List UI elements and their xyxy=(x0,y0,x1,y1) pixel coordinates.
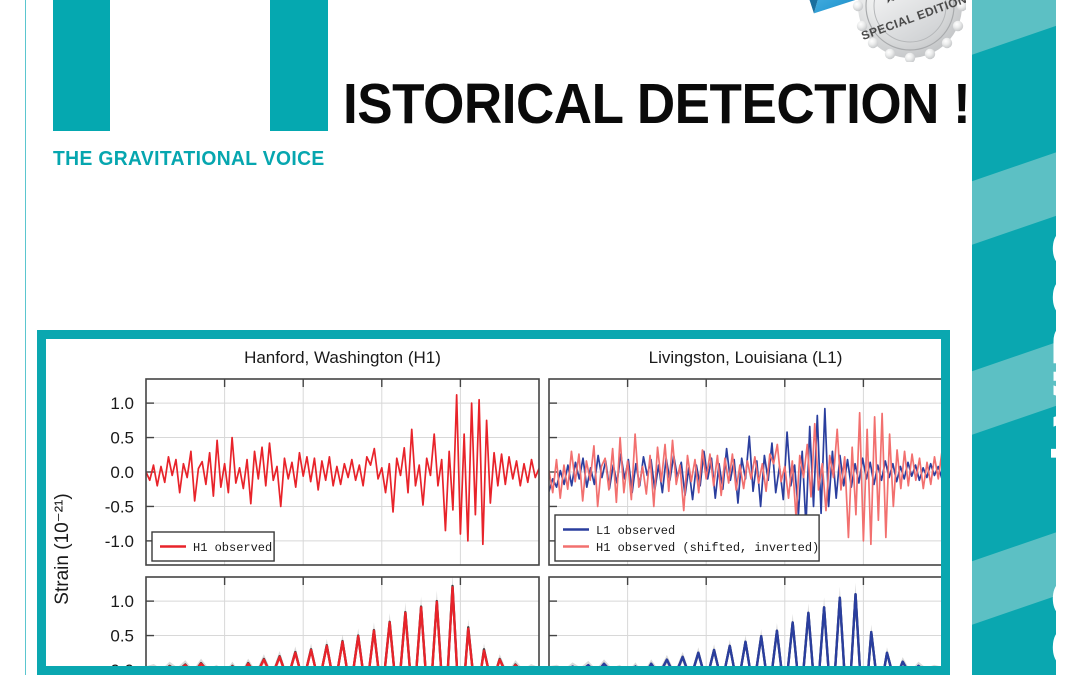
chart-panel-l1-reconstructed xyxy=(549,577,941,666)
y-tick-label: 1.0 xyxy=(110,394,134,413)
chart-panel-h1-observed: 1.00.50.0-0.5-1.0H1 observed xyxy=(105,379,539,565)
sidebar-brand-label: GO and VIRGO xyxy=(1040,224,1056,672)
left-margin-rule xyxy=(25,0,26,675)
y-tick-label: -0.5 xyxy=(105,497,134,516)
logo-bar-left xyxy=(53,0,110,131)
legend-label: H1 observed xyxy=(193,541,272,555)
chart-panel-h1-reconstructed: 1.00.50.0-0.5-1.0 xyxy=(105,574,539,666)
y-tick-label: 0.5 xyxy=(110,627,134,646)
chart-legend: H1 observed xyxy=(152,532,274,561)
chart-canvas: Hanford, Washington (H1)Livingston, Loui… xyxy=(46,339,941,666)
logo-bar-right xyxy=(270,0,328,131)
panel-title: Livingston, Louisiana (L1) xyxy=(649,348,843,367)
chart-legend: L1 observedH1 observed (shifted, inverte… xyxy=(555,515,819,561)
y-tick-label: 1.0 xyxy=(110,592,134,611)
y-tick-label: -1.0 xyxy=(105,532,134,551)
right-brand-sidebar: GO and VIRGO xyxy=(972,0,1056,675)
legend-label: H1 observed (shifted, inverted) xyxy=(596,541,819,555)
special-edition-badge-icon: SPECIAL EDITION ★★★ xyxy=(806,0,966,62)
y-tick-label: 0.0 xyxy=(110,661,134,666)
sidebar-text-wrap: GO and VIRGO xyxy=(972,0,1056,675)
chart-panel-l1-observed: L1 observedH1 observed (shifted, inverte… xyxy=(549,379,941,565)
legend-label: L1 observed xyxy=(596,524,675,538)
figure-frame: Hanford, Washington (H1)Livingston, Loui… xyxy=(37,330,950,675)
gw-detection-figure: Hanford, Washington (H1)Livingston, Loui… xyxy=(46,339,941,666)
y-tick-label: 0.5 xyxy=(110,429,134,448)
y-tick-label: 0.0 xyxy=(110,463,134,482)
page-headline: ISTORICAL DETECTION ! xyxy=(343,76,970,133)
publication-tagline: THE GRAVITATIONAL VOICE xyxy=(53,147,325,171)
y-axis-label: Strain (10⁻²¹) xyxy=(52,493,73,604)
panel-title: Hanford, Washington (H1) xyxy=(244,348,441,367)
